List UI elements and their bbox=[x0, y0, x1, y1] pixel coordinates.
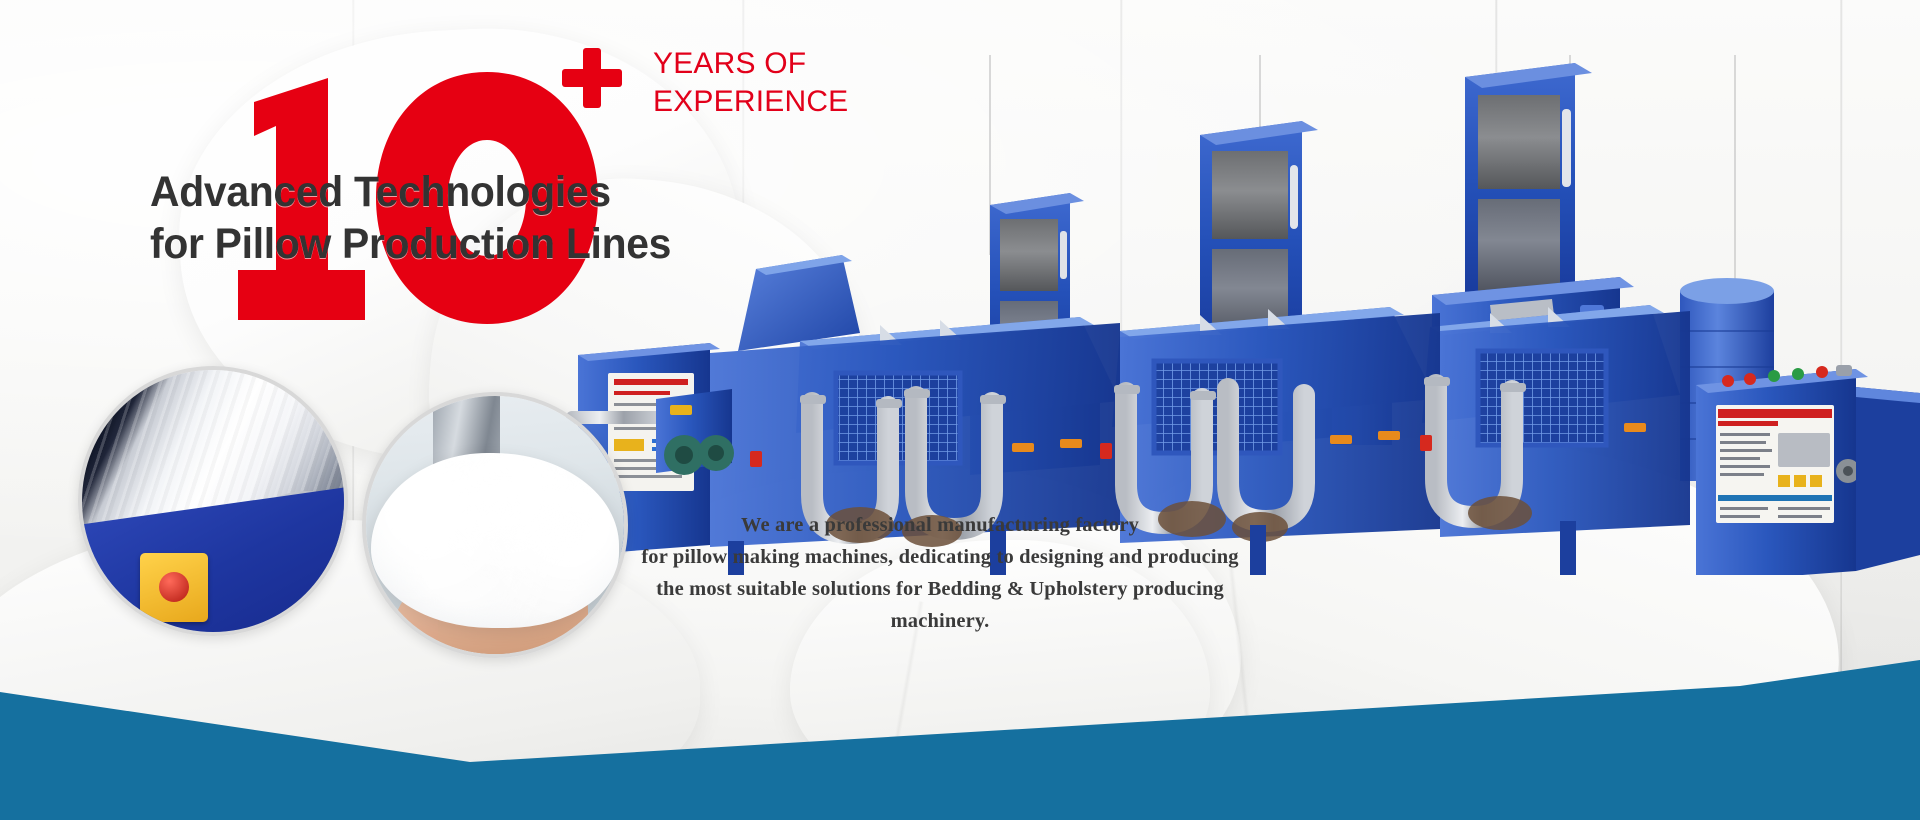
production-line-machinery-photo bbox=[560, 55, 1920, 575]
fiber-opening-roller-thumbnail[interactable] bbox=[78, 366, 348, 636]
hero-banner: YEARS OF EXPERIENCE bbox=[0, 0, 1920, 820]
company-description: We are a professional manufacturing fact… bbox=[620, 510, 1260, 638]
polyester-fiberfill-in-hands-thumbnail[interactable] bbox=[362, 392, 628, 658]
fiberfill-cloud bbox=[371, 453, 619, 628]
bottom-wave-band bbox=[0, 640, 1920, 820]
page-title: Advanced Technologies for Pillow Product… bbox=[150, 166, 671, 271]
plus-icon bbox=[562, 48, 622, 108]
years-of-experience-caption: YEARS OF EXPERIENCE bbox=[653, 45, 848, 122]
emergency-stop-button-icon bbox=[140, 553, 208, 621]
